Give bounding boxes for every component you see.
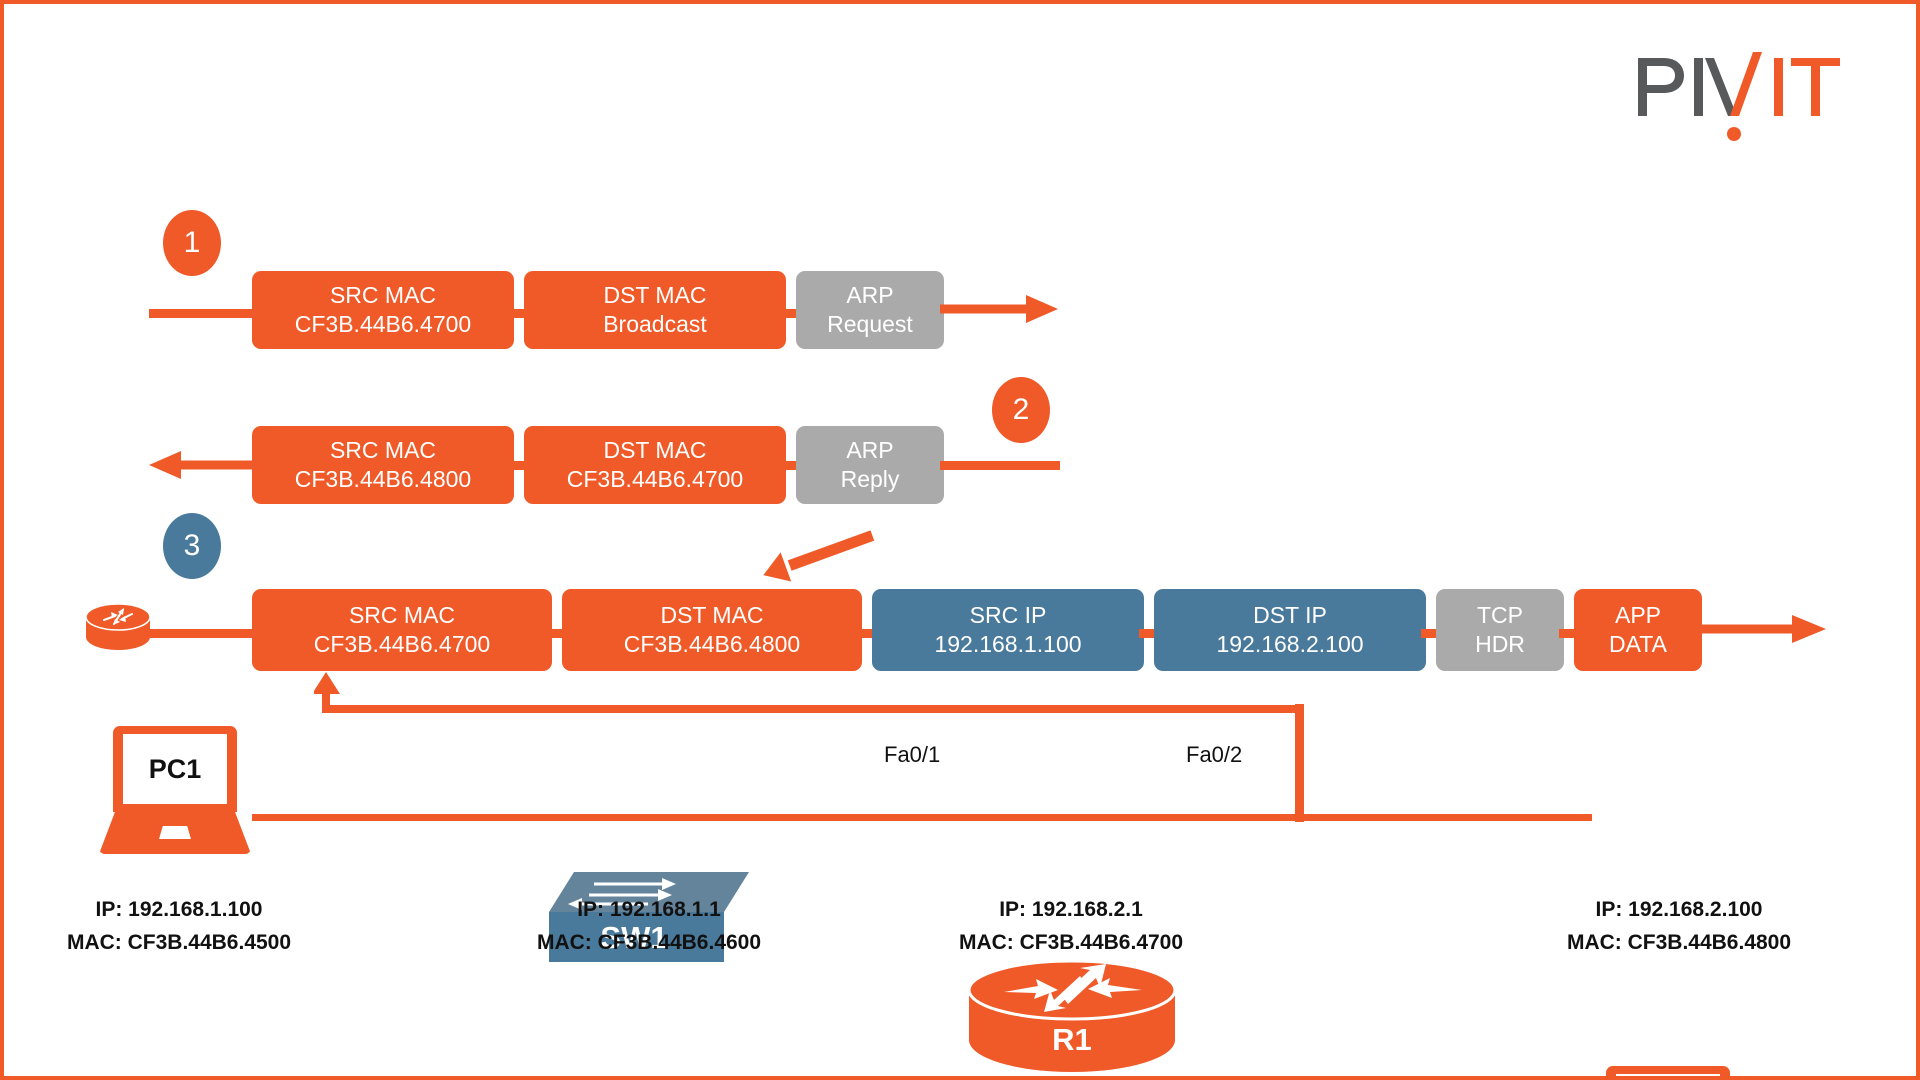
pc1-trackpad — [159, 826, 191, 839]
step-badge-1: 1 — [163, 210, 221, 276]
frame3-field-tcp-hdr-title: TCP — [1477, 601, 1523, 630]
sw1-info: IP: 192.168.1.1 MAC: CF3B.44B6.4600 — [504, 894, 794, 959]
frame3-field-tcp-hdr: TCP HDR — [1436, 589, 1564, 671]
pivit-logo-mark — [1634, 52, 1844, 142]
sw1-ip: IP: 192.168.1.1 — [504, 894, 794, 927]
frame3-field-src-mac-title: SRC MAC — [349, 601, 455, 630]
frame3-field-src-ip-value: 192.168.1.100 — [934, 630, 1081, 659]
r1-info: IP: 192.168.2.1 MAC: CF3B.44B6.4700 — [926, 894, 1216, 959]
frame1-field-dst-mac: DST MAC Broadcast — [524, 271, 786, 349]
r1-mac: MAC: CF3B.44B6.4700 — [926, 927, 1216, 960]
step-badge-2-number: 2 — [1013, 393, 1030, 427]
frame1-field-arp-request-value: Request — [827, 310, 913, 339]
diagram-canvas: 1 SRC MAC CF3B.44B6.4700 DST MAC Broadca… — [0, 0, 1920, 1080]
sw1-mac: MAC: CF3B.44B6.4600 — [504, 927, 794, 960]
node-r1[interactable]: R1 — [966, 960, 1178, 1072]
frame2-field-arp-reply-value: Reply — [841, 465, 900, 494]
frame1-field-dst-mac-title: DST MAC — [603, 281, 706, 310]
frame3-field-src-ip: SRC IP 192.168.1.100 — [872, 589, 1144, 671]
diagonal-arrow-icon — [759, 514, 909, 586]
row1-line-left — [149, 309, 254, 318]
r1-ip: IP: 192.168.2.1 — [926, 894, 1216, 927]
pc2-screen: PC2 — [1616, 1074, 1720, 1080]
pc2-ip: IP: 192.168.2.100 — [1524, 894, 1834, 927]
frame1-field-src-mac-value: CF3B.44B6.4700 — [295, 310, 471, 339]
frame3-field-src-ip-title: SRC IP — [970, 601, 1047, 630]
router-small-icon — [82, 599, 154, 655]
frame3-field-tcp-hdr-value: HDR — [1475, 630, 1525, 659]
frame3-field-dst-mac-title: DST MAC — [660, 601, 763, 630]
frame2-field-dst-mac-title: DST MAC — [603, 436, 706, 465]
pc2-mac: MAC: CF3B.44B6.4800 — [1524, 927, 1834, 960]
frame2-field-src-mac-value: CF3B.44B6.4800 — [295, 465, 471, 494]
row3-line-left — [150, 629, 260, 638]
frame1-field-src-mac: SRC MAC CF3B.44B6.4700 — [252, 271, 514, 349]
frame1-field-arp-request-title: ARP — [846, 281, 893, 310]
frame2-field-arp-reply: ARP Reply — [796, 426, 944, 504]
frame2-field-arp-reply-title: ARP — [846, 436, 893, 465]
pc1-ip: IP: 192.168.1.100 — [34, 894, 324, 927]
frame1-field-arp-request: ARP Request — [796, 271, 944, 349]
frame3-field-app-data-value: DATA — [1609, 630, 1667, 659]
step-badge-3: 3 — [163, 513, 221, 579]
step-badge-2: 2 — [992, 377, 1050, 443]
callout-path-vertical — [1295, 704, 1304, 822]
r1-label: R1 — [966, 1022, 1178, 1058]
frame3-field-app-data-title: APP — [1615, 601, 1661, 630]
pc1-info: IP: 192.168.1.100 MAC: CF3B.44B6.4500 — [34, 894, 324, 959]
pc2-lid — [1606, 1066, 1730, 1080]
node-pc1[interactable]: PC1 — [99, 726, 251, 854]
pivit-logo — [1634, 52, 1844, 142]
frame3-field-dst-mac: DST MAC CF3B.44B6.4800 — [562, 589, 862, 671]
interface-label-fa01: Fa0/1 — [884, 742, 940, 768]
frame2-field-dst-mac: DST MAC CF3B.44B6.4700 — [524, 426, 786, 504]
frame2-field-src-mac-title: SRC MAC — [330, 436, 436, 465]
step-badge-1-number: 1 — [184, 226, 201, 260]
frame2-line-right — [940, 461, 1060, 470]
step-badge-3-number: 3 — [184, 529, 201, 563]
frame1-arrow-right-icon — [940, 294, 1060, 324]
pc1-screen: PC1 — [123, 734, 227, 804]
frame3-field-app-data: APP DATA — [1574, 589, 1702, 671]
frame3-field-dst-ip-value: 192.168.2.100 — [1216, 630, 1363, 659]
frame3-arrow-right-icon — [1698, 614, 1828, 644]
frame3-field-dst-mac-value: CF3B.44B6.4800 — [624, 630, 800, 659]
frame2-arrow-left-icon — [149, 450, 259, 480]
pc1-label: PC1 — [149, 754, 202, 785]
interface-label-fa02: Fa0/2 — [1186, 742, 1242, 768]
pc1-mac: MAC: CF3B.44B6.4500 — [34, 927, 324, 960]
frame2-field-dst-mac-value: CF3B.44B6.4700 — [567, 465, 743, 494]
frame1-field-dst-mac-value: Broadcast — [603, 310, 707, 339]
frame3-field-dst-ip-title: DST IP — [1253, 601, 1327, 630]
frame3-field-dst-ip: DST IP 192.168.2.100 — [1154, 589, 1426, 671]
node-pc2[interactable]: PC2 — [1592, 1066, 1744, 1080]
network-link-line — [252, 814, 1592, 821]
frame1-field-src-mac-title: SRC MAC — [330, 281, 436, 310]
frame2-field-src-mac: SRC MAC CF3B.44B6.4800 — [252, 426, 514, 504]
callout-path — [314, 672, 1304, 722]
frame3-field-src-mac: SRC MAC CF3B.44B6.4700 — [252, 589, 552, 671]
pc2-info: IP: 192.168.2.100 MAC: CF3B.44B6.4800 — [1524, 894, 1834, 959]
frame3-field-src-mac-value: CF3B.44B6.4700 — [314, 630, 490, 659]
